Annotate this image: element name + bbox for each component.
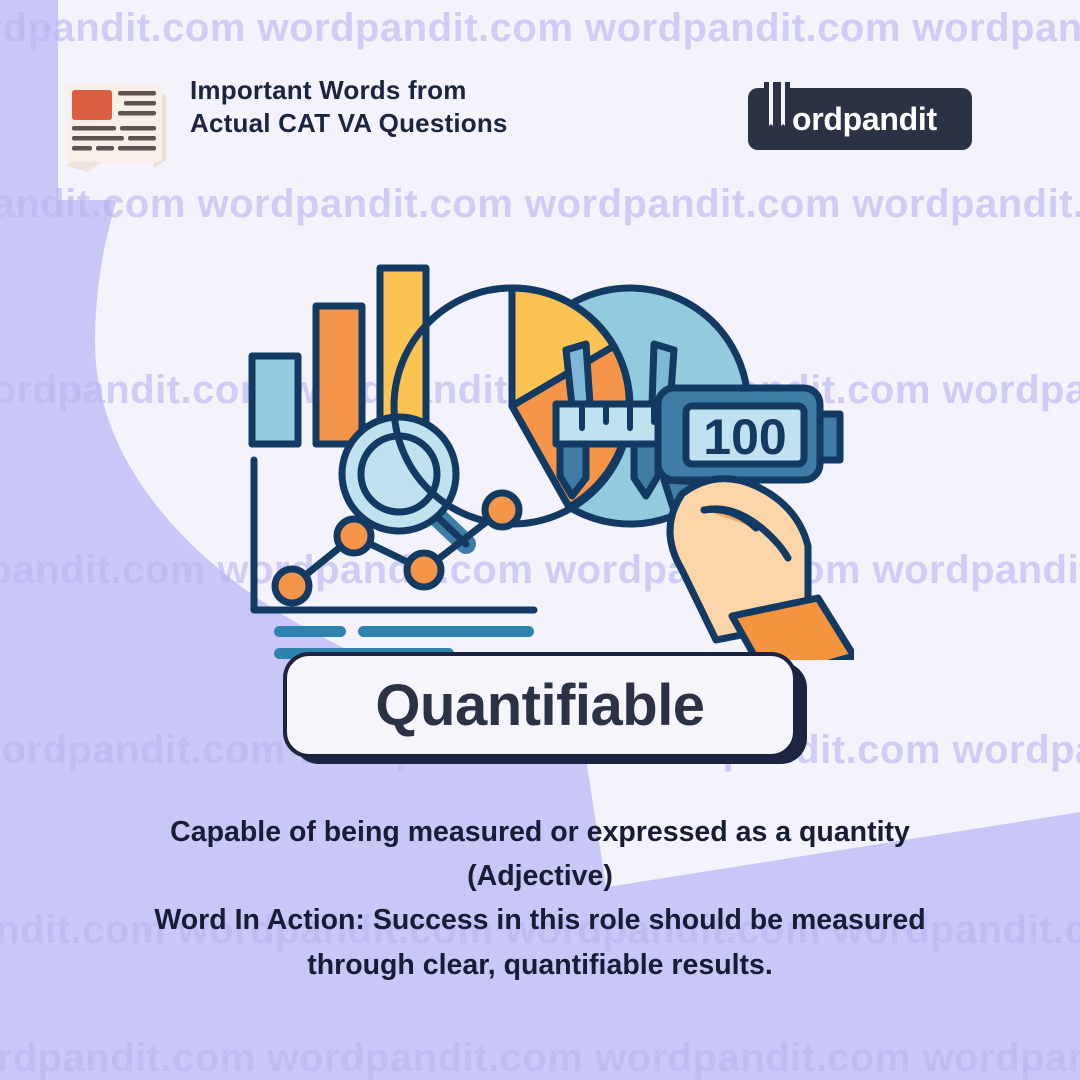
word-in-action-line-2: through clear, quantifiable results.: [40, 943, 1040, 987]
page-title: Important Words from Actual CAT VA Quest…: [190, 74, 508, 141]
header: Important Words from Actual CAT VA Quest…: [0, 74, 1080, 174]
definition-line-1: Capable of being measured or expressed a…: [40, 810, 1040, 854]
measurement-analytics-illustration: 100: [234, 248, 854, 660]
caliper-display-value: 100: [703, 409, 786, 465]
logo-text: ordpandit: [792, 88, 937, 150]
wordpandit-logo[interactable]: ordpandit: [748, 88, 972, 150]
word-card-face[interactable]: Quantifiable: [283, 652, 797, 758]
bookmark-icon: [760, 80, 796, 144]
definition-block: Capable of being measured or expressed a…: [40, 810, 1040, 987]
word-label: Quantifiable: [375, 672, 704, 739]
page-title-line-2: Actual CAT VA Questions: [190, 107, 508, 140]
newspaper-icon: [58, 74, 176, 174]
word-in-action-line-1: Word In Action: Success in this role sho…: [40, 898, 1040, 942]
poster-canvas: wordpandit.com wordpandit.com wordpandit…: [0, 0, 1080, 1080]
hand-icon: [664, 479, 854, 660]
definition-part-of-speech: (Adjective): [40, 854, 1040, 898]
word-card[interactable]: Quantifiable: [283, 652, 807, 764]
page-title-line-1: Important Words from: [190, 74, 508, 107]
